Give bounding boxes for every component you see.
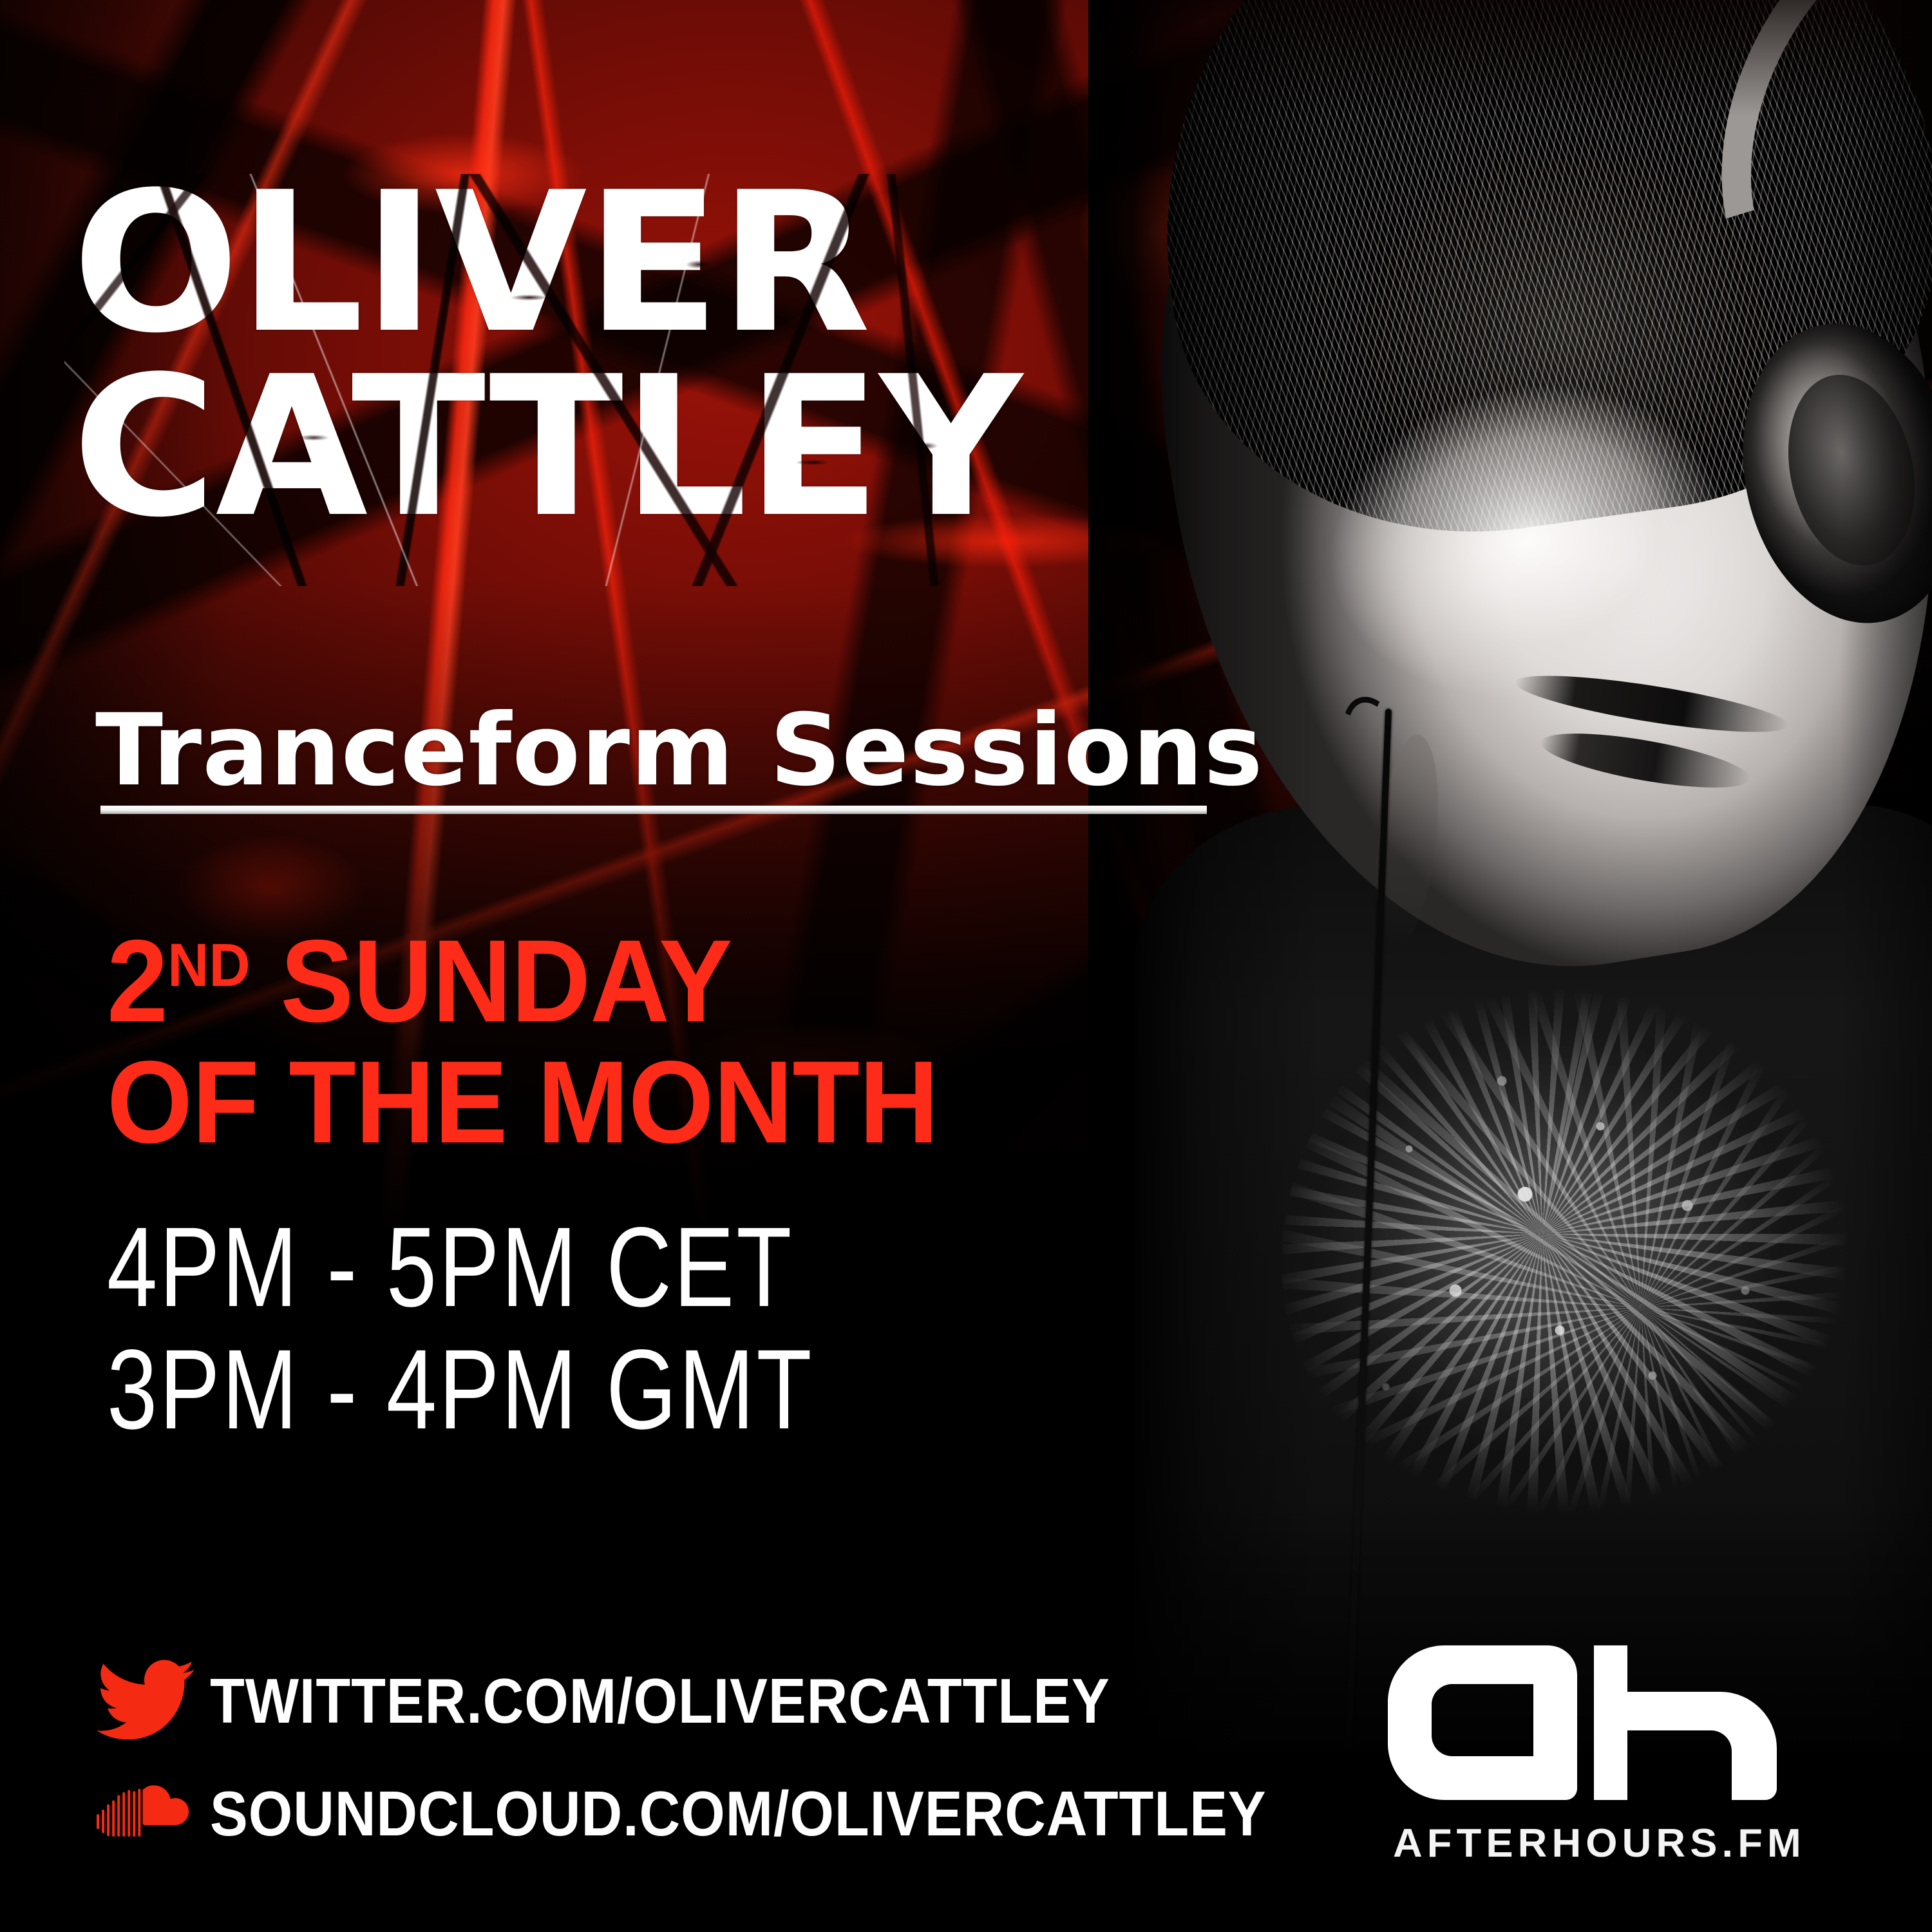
- schedule-day-name: SUNDAY: [280, 915, 732, 1046]
- social-link-soundcloud[interactable]: SOUNDCLOUD.COM/OLIVERCATTLEY: [97, 1777, 1384, 1850]
- schedule-ordinal-suffix: ND: [167, 931, 250, 999]
- schedule-time-gmt: 3PM - 4PM GMT: [107, 1333, 814, 1446]
- twitter-bird-icon: [97, 1659, 194, 1743]
- soundcloud-url-label: SOUNDCLOUD.COM/OLIVERCATTLEY: [210, 1777, 1267, 1850]
- schedule-day-line: 2ND SUNDAY: [107, 922, 732, 1039]
- promo-poster: OLIVER CATTLEY Tranceform Sessions 2ND S…: [0, 0, 1932, 1932]
- divider-rule: [100, 806, 1207, 814]
- social-link-twitter[interactable]: TWITTER.COM/OLIVERCATTLEY: [97, 1659, 1210, 1743]
- schedule-ordinal-number: 2: [107, 915, 167, 1046]
- soundcloud-cloud-icon: [97, 1779, 194, 1850]
- portrait-edge-blend: [1088, 0, 1932, 1752]
- show-subtitle: Tranceform Sessions: [95, 693, 1264, 808]
- ah-monogram-icon: [1388, 1645, 1826, 1818]
- artist-name-line-2: CATTLEY: [72, 368, 1021, 527]
- afterhours-fm-logo[interactable]: AFTERHOURS.FM: [1388, 1645, 1826, 1890]
- artist-name-line-1: OLIVER: [72, 184, 869, 343]
- dj-portrait-photo: [1088, 0, 1932, 1752]
- afterhours-fm-label: AFTERHOURS.FM: [1393, 1821, 1806, 1866]
- schedule-frequency-line: OF THE MONTH: [107, 1043, 938, 1160]
- schedule-time-cet: 4PM - 5PM CET: [107, 1211, 793, 1324]
- schedule-day-spacer: [251, 915, 281, 1046]
- twitter-url-label: TWITTER.COM/OLIVERCATTLEY: [210, 1665, 1110, 1738]
